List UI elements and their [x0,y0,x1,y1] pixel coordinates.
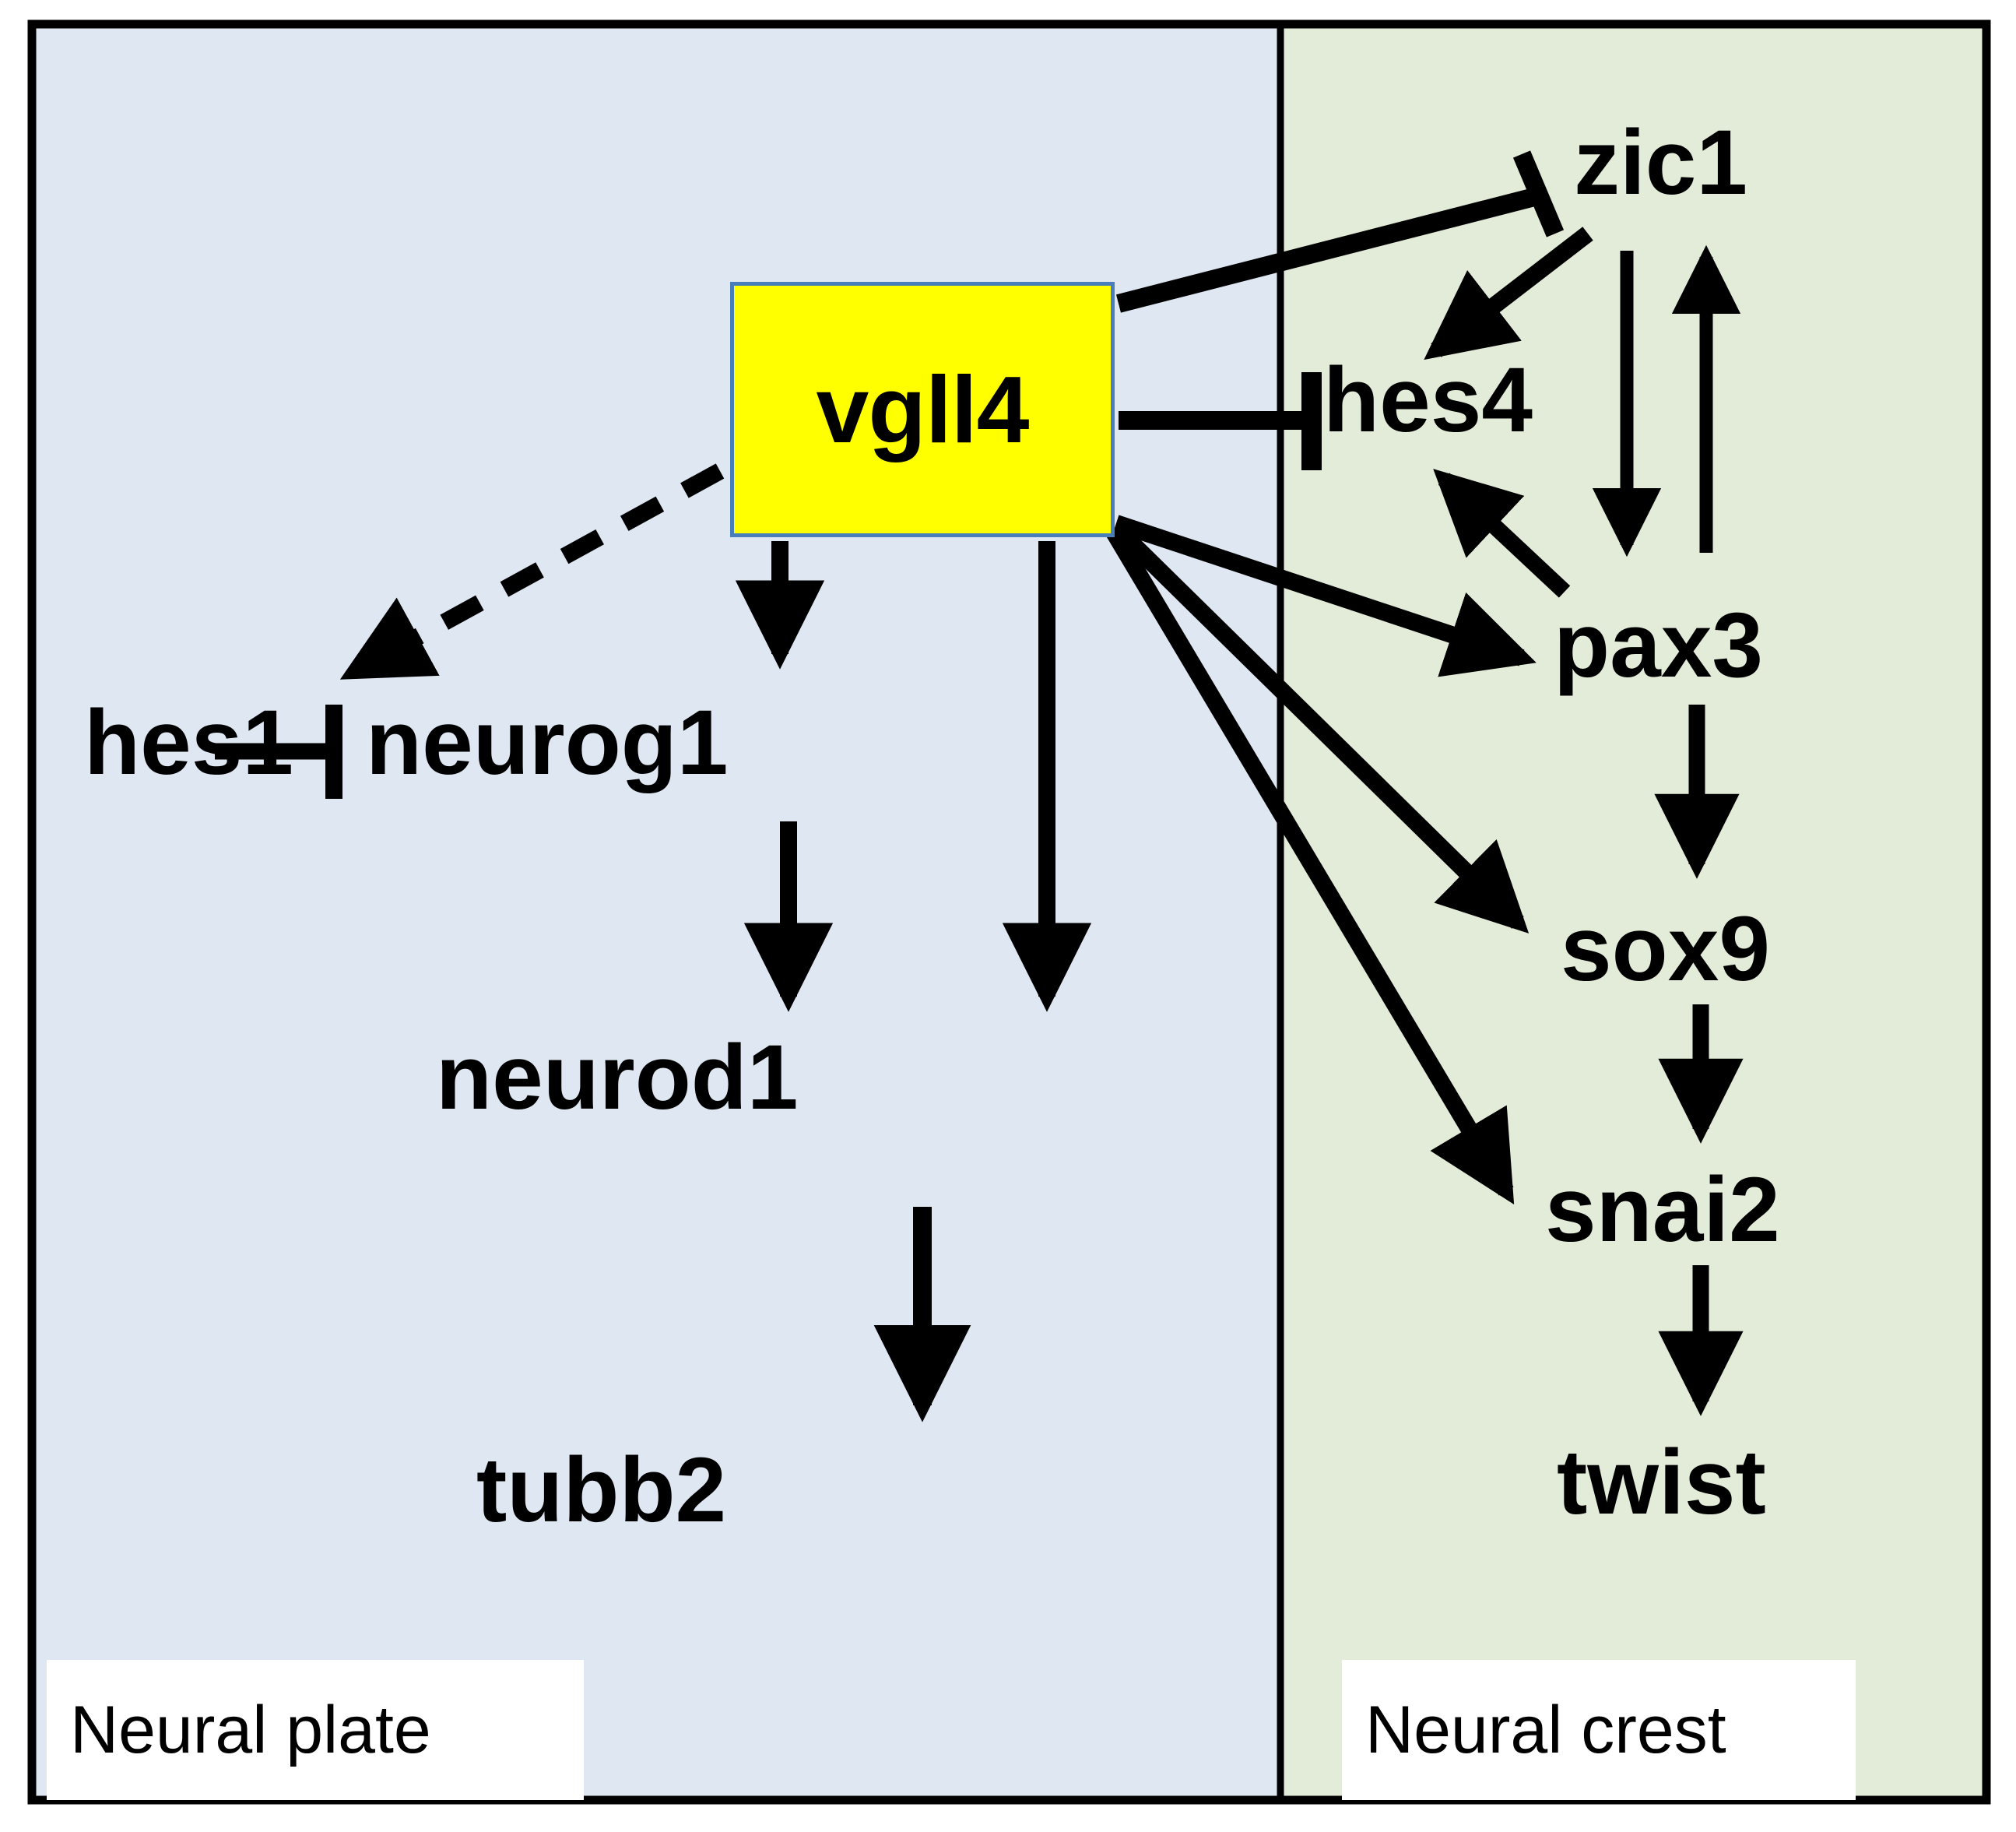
node-zic1-label: zic1 [1574,111,1747,214]
node-hes4-label: hes4 [1323,349,1533,452]
region-tag-neural-plate: Neural plate [47,1660,584,1800]
node-sox9-label: sox9 [1561,898,1770,1000]
region-tag-neural-crest: Neural crest [1342,1660,1856,1800]
node-snai2-label: snai2 [1545,1159,1780,1261]
region-tag-neural-crest-label: Neural crest [1365,1692,1726,1769]
node-tubb2-label: tubb2 [476,1439,726,1542]
node-hes4[interactable]: hes4 [1323,354,1533,446]
pathway-diagram-figure: hes1 --> neurog1 --> neurod1 (long strai… [0,0,2016,1832]
node-vgll4-label: vgll4 [816,355,1028,464]
node-neurod1[interactable]: neurod1 [436,1032,799,1123]
node-twist-label: twist [1557,1431,1766,1534]
node-vgll4[interactable]: vgll4 [730,282,1115,537]
node-zic1[interactable]: zic1 [1574,117,1747,209]
node-hes1[interactable]: hes1 [84,697,293,789]
node-pax3[interactable]: pax3 [1554,600,1763,691]
node-neurog1[interactable]: neurog1 [366,697,729,789]
region-tag-neural-plate-label: Neural plate [70,1692,431,1769]
node-neurog1-label: neurog1 [366,691,729,794]
node-neurod1-label: neurod1 [436,1026,799,1129]
node-sox9[interactable]: sox9 [1561,903,1770,995]
node-hes1-label: hes1 [84,691,293,794]
node-snai2[interactable]: snai2 [1545,1164,1780,1256]
node-pax3-label: pax3 [1554,594,1763,697]
node-tubb2[interactable]: tubb2 [476,1444,726,1536]
node-twist[interactable]: twist [1557,1436,1766,1528]
